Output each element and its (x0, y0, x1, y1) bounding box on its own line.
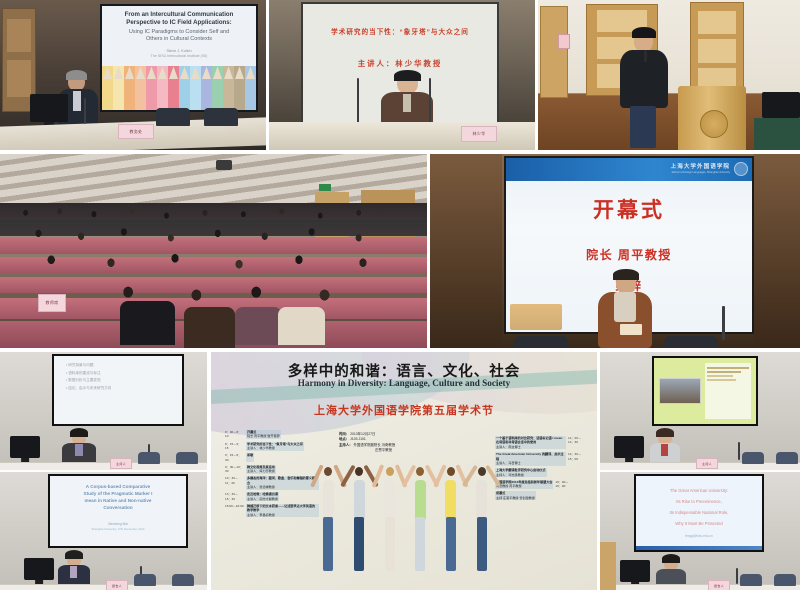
front-attendee (184, 307, 235, 348)
schedule-who: 主持 庄恩平教授 曾创建教授 (496, 496, 535, 500)
schedule-who: 主讲人：林少华教授 (247, 446, 275, 450)
meta-host-label: 主持人： (339, 443, 353, 447)
schedule-who: 主讲人：南文博士 (496, 445, 521, 449)
slide-decoration (510, 304, 562, 330)
panel-lin-shaohua-lecture[interactable]: 学术研究的当下性：“象牙塔”与大众之间 主讲人：林少华教授 林少华 (269, 0, 535, 150)
projection-screen: The Great American University: Its Rise … (634, 474, 764, 552)
schedule-who: 主讲人：阎光才副教授 (247, 497, 278, 501)
front-attendee (235, 307, 282, 345)
front-attendee (120, 301, 176, 345)
chair (740, 574, 762, 586)
schedule-time: 15：00－16：00 (555, 480, 574, 489)
schedule-row: 13：30－15：30走近哈佛：哈佛通识课主讲人：阎光才副教授 (225, 492, 319, 501)
nameplate: 林少华 (461, 126, 497, 142)
chair (134, 574, 156, 586)
slide-title: 开幕式 (593, 194, 665, 224)
wood-cabinet (600, 542, 616, 590)
seminar-desk (600, 584, 800, 590)
slide-affiliation: Shanghai University, 27th December, 2013 (92, 527, 145, 531)
audience-crowd (0, 201, 427, 348)
schedule-row: 8：00－8：10开幕式院长 周平教授 致开幕辞 (225, 430, 319, 439)
bullet-item: • 研究背景与问题 (66, 362, 111, 370)
photo-seminar-gau: The Great American University: Its Rise … (600, 472, 800, 590)
dancer-figure (440, 462, 463, 580)
schedule-row: The Great American University 的翻译、启示过程主讲… (495, 452, 587, 465)
schedule-row: 外国语学院2013年度总结和新年展望大会冯奇教授 周平教授15：00－16：00 (495, 480, 587, 489)
photo-opening-ceremony: 上海大学外国语学院 School of Foreign Languages, S… (430, 154, 800, 348)
bullet-item: • 结论、启示与未来研究方向 (66, 385, 111, 393)
nameplate: 教务处 (118, 124, 154, 139)
banner-title-en: School of Foreign Languages, Shanghai Un… (671, 171, 730, 174)
chair (774, 574, 796, 586)
meta-date-label: 时间： (339, 432, 349, 436)
slide-speaker: 院长 周平教授 (586, 246, 672, 263)
slide-title: 学术研究的当下性：“象牙塔”与大众之间 (331, 26, 469, 36)
poster-title-en: Harmony in Diversity: Language, Culture … (211, 378, 597, 388)
slide-title-line2: Perspective to IC Field Applications: (126, 19, 231, 26)
panel-seminar-i-mean-talk[interactable]: A Corpus-based Comparative Study of the … (0, 472, 207, 590)
pencils-graphic (102, 66, 256, 110)
microphone (84, 98, 86, 124)
schedule-item: 跨越迁移下的文本研读——记述型早达大学英语的教学教学 (247, 504, 315, 512)
schedule-item: 闭幕式 (496, 491, 505, 495)
microphone (736, 568, 738, 584)
monitor (620, 560, 650, 582)
panel-auditorium-audience[interactable]: 教师席 (0, 154, 427, 348)
nameplate: 教师席 (38, 294, 66, 312)
panel-kulich-lecture[interactable]: From an Intercultural Communication Pers… (0, 0, 266, 150)
schedule-item: 走近哈佛：哈佛通识课 (247, 492, 278, 496)
poster-schedule-left: 8：00－8：10开幕式院长 周平教授 致开幕辞 8：15－9：15学术研究的当… (225, 430, 319, 520)
schedule-item: 多模态的海洋：图词、歌曲、音乐和舞蹈的意义耦合 (247, 476, 315, 484)
slide-bullets: • 研究背景与问题 • 语料库的建设与标注 • 数据分析与主要发现 • 结论、启… (66, 362, 111, 392)
dancer-figure (409, 462, 432, 580)
photo-seminar-i-mean: A Corpus-based Comparative Study of the … (0, 472, 207, 590)
chair (742, 452, 764, 464)
dancer-figure (317, 462, 340, 580)
wall-left-column (430, 154, 502, 348)
projection-screen: • 研究背景与问题 • 语料库的建设与标注 • 数据分析与主要发现 • 结论、启… (52, 354, 184, 426)
exit-sign-icon (319, 184, 331, 191)
slide-line3: Its Indispensable National Role, (670, 508, 729, 519)
standing-speaker (620, 30, 668, 146)
photo-audience: 教师席 (0, 154, 427, 348)
monitor (10, 436, 40, 458)
chair-back (514, 336, 568, 348)
schedule-row: 闭幕式主持 庄恩平教授 曾创建教授 (495, 491, 587, 500)
schedule-item: The Great American University 的翻译、启示过程 (496, 452, 564, 460)
slide-presenter: Wendong Mai (108, 522, 128, 526)
dancer-figure (348, 462, 371, 580)
schedule-who: 主持人：邓志勇教授 (496, 473, 524, 477)
schedule-row: 9：15－9：30茶歇 (225, 453, 319, 462)
slide-affiliation: The SISU Intercultural Institute (SII) (151, 54, 208, 58)
projection-screen: A Corpus-based Comparative Study of the … (48, 474, 188, 548)
schedule-time: 15:00－16:00 (225, 504, 244, 517)
photo-collage: From an Intercultural Communication Pers… (0, 0, 800, 590)
panel-seminar-image-slide[interactable]: 主持人 (600, 352, 800, 470)
slide-subtitle-line2: Others in Cultural Contexts (146, 36, 212, 43)
taskbar (636, 546, 762, 550)
schedule-time: 9：15－9：30 (225, 453, 244, 462)
dancer-figure (378, 462, 401, 580)
schedule-who: 主讲人：冯奇博士 (496, 461, 521, 465)
schedule-who: 主讲人：李昌标教授 (247, 513, 275, 517)
slide-footer: fengqi@shu.edu.cn (685, 534, 713, 538)
schedule-who: 院长 周平教授 致开幕辞 (247, 434, 280, 438)
schedule-time: 14：30－15：00 (568, 452, 587, 465)
photo-seminar-chinese: • 研究背景与问题 • 语料库的建设与标注 • 数据分析与主要发现 • 结论、启… (0, 352, 207, 470)
chair-back (664, 336, 718, 348)
slide-title-line4: Conversation (84, 505, 153, 512)
nameplate: 主持人 (110, 458, 132, 469)
meta-place-value: J103 J101 (350, 437, 366, 441)
schedule-time: 10：30－11：30 (225, 476, 244, 489)
meta-host-value: 外国语学院副院长 冯奇教授 (354, 443, 396, 447)
monitor (614, 436, 644, 458)
projection-screen (652, 356, 758, 426)
slide-title-line1: A Corpus-based Comparative (84, 484, 153, 491)
presenter-figure (62, 430, 96, 464)
slide-host-line: 主讲人：林少华教授 (358, 58, 443, 69)
poster-schedule-right: 一个基于语料库的对比研究：话语标记语 I mean 在母语和非母语会话中的使用主… (495, 436, 587, 503)
wall-panel (540, 6, 568, 98)
slide-title-line1: From an Intercultural Communication (125, 11, 234, 18)
university-seal-icon (700, 110, 728, 138)
poster-subtitle-cn: 上海大学外国语学院第五届学术节 (211, 402, 597, 418)
photo-lin-shaohua: 学术研究的当下性：“象牙塔”与大众之间 主讲人：林少华教授 林少华 (269, 0, 535, 150)
panel-conference-poster[interactable]: 多样中的和谐：语言、文化、社会 Harmony in Diversity: La… (211, 352, 597, 590)
schedule-row: 15:00－16:00跨越迁移下的文本研读——记述型早达大学英语的教学教学主讲人… (225, 504, 319, 517)
photo-podium-speaker (538, 0, 800, 150)
slide-photo (659, 378, 701, 404)
schedule-time: 9：30－10：30 (225, 465, 244, 474)
dancer-figure (470, 462, 493, 580)
wall-notice (558, 34, 570, 49)
schedule-item: 学术研究的当下性：“象牙塔”与大众之间 (247, 442, 303, 446)
schedule-row: 9：30－10：30跨文化视角及其运用主讲人：库力齐教授 (225, 465, 319, 474)
presenter-figure (650, 430, 680, 464)
schedule-who: 主讲人：张德禄教授 (247, 485, 275, 489)
monitor (762, 92, 800, 118)
schedule-row: 8：15－9：15学术研究的当下性：“象牙塔”与大众之间主讲人：林少华教授 (225, 442, 319, 451)
slide-line2: Its Rise to Preeminence, (670, 497, 729, 508)
front-attendee (278, 307, 325, 345)
microphone-stand (722, 306, 725, 340)
presenter-figure (58, 552, 90, 586)
chair (138, 452, 160, 464)
dean-speaker (598, 272, 652, 348)
schedule-time: 14：00－14：30 (568, 436, 587, 449)
schedule-row: 一个基于语料库的对比研究：话语标记语 I mean 在母语和非母语会话中的使用主… (495, 436, 587, 449)
monitor (24, 558, 54, 580)
panel-seminar-great-american-university[interactable]: The Great American University: Its Rise … (600, 472, 800, 590)
chair (172, 574, 194, 586)
podium (678, 86, 746, 150)
slide-presenter: Steve J. Kulich (166, 49, 191, 53)
chair (776, 452, 798, 464)
meta-host-value2: 庄恩平教授 (339, 448, 459, 453)
schedule-time: 13：30－15：30 (225, 492, 244, 501)
slide-subtitle-line1: Using IC Paradigms to Consider Self and (129, 29, 229, 36)
table-cloth (754, 118, 800, 150)
chair (156, 108, 190, 126)
meta-date-value: 2013年12月27日 (350, 432, 375, 436)
schedule-row: 10：30－11：30多模态的海洋：图词、歌曲、音乐和舞蹈的意义耦合主讲人：张德… (225, 476, 319, 489)
poster-dancers-graphic (317, 462, 493, 580)
meta-place-label: 地点： (339, 437, 349, 441)
schedule-item: 茶歇 (247, 453, 253, 457)
slide-banner: 上海大学外国语学院 School of Foreign Languages, S… (506, 158, 752, 181)
nameplate: 主持人 (696, 458, 718, 469)
chair (176, 452, 198, 464)
photo-seminar-image: 主持人 (600, 352, 800, 470)
slide-title-line2: Study of the Pragmatic Marker I (84, 491, 153, 498)
schedule-time: 8：15－9：15 (225, 442, 244, 451)
photo-poster: 多样中的和谐：语言、文化、社会 Harmony in Diversity: La… (211, 352, 597, 590)
panel-seminar-chinese-bullets[interactable]: • 研究背景与问题 • 语料库的建设与标注 • 数据分析与主要发现 • 结论、启… (0, 352, 207, 470)
schedule-item: 一个基于语料库的对比研究：话语标记语 I mean 在母语和非母语会话中的使用 (496, 436, 562, 444)
nameplate: 报告人 (708, 580, 730, 590)
slide-title-line3: mean in Native and Non-native (84, 498, 153, 505)
chair (204, 108, 238, 126)
handheld-microphone (644, 50, 647, 62)
panel-podium-speaker[interactable] (538, 0, 800, 150)
schedule-time: 8：00－8：10 (225, 430, 244, 439)
monitor (30, 94, 68, 122)
wall-right-column (754, 154, 800, 348)
slide-line1: The Great American University: (670, 486, 729, 497)
slide-line4: Why It Must Be Protected (670, 519, 729, 530)
schedule-row: 上海大学翻译批评研究中心启动仪式主持人：邓志勇教授 (495, 468, 587, 477)
panel-opening-ceremony[interactable]: 上海大学外国语学院 School of Foreign Languages, S… (430, 154, 800, 348)
projector (216, 160, 232, 170)
bullet-item: • 数据分析与主要发现 (66, 377, 111, 385)
university-logo-icon (734, 162, 748, 176)
schedule-item: 上海大学翻译批评研究中心启动仪式 (496, 468, 546, 472)
seated-speaker (381, 72, 433, 128)
nameplate: 报告人 (106, 580, 128, 590)
photo-kulich-lecture: From an Intercultural Communication Pers… (0, 0, 266, 150)
slide-text-block (705, 363, 751, 419)
schedule-who: 主讲人：库力齐教授 (247, 469, 275, 473)
projection-screen: From an Intercultural Communication Pers… (100, 4, 258, 112)
microphone (738, 442, 740, 460)
poster-meta: 时间： 2013年12月27日 地点： J103 J101 主持人： 外国语学院… (339, 432, 459, 454)
bullet-item: • 语料库的建设与标注 (66, 370, 111, 378)
